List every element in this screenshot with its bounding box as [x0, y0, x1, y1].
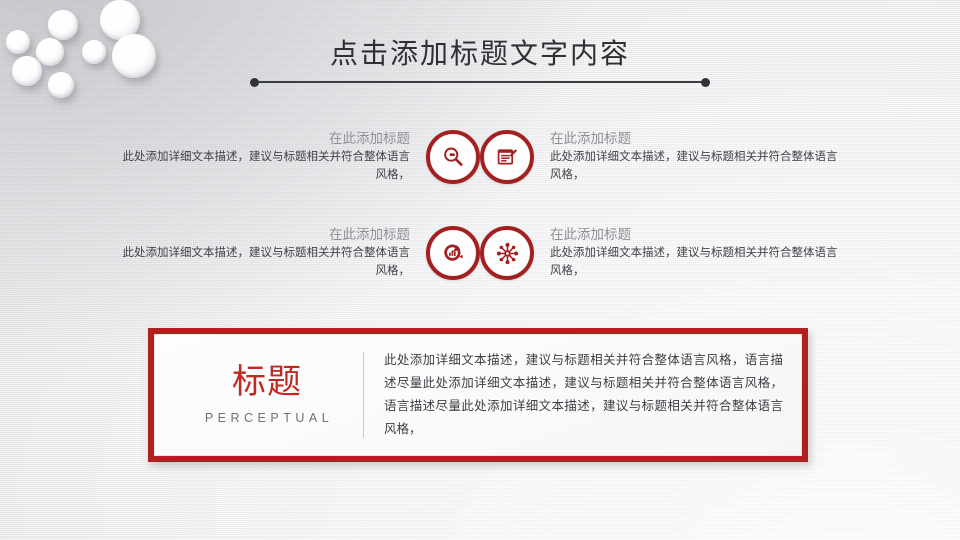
- page-title: 点击添加标题文字内容: [250, 36, 710, 71]
- feature-row-bottom: 在此添加标题 此处添加详细文本描述，建议与标题相关并符合整体语言风格，: [0, 220, 960, 286]
- feature-heading: 在此添加标题: [550, 225, 840, 245]
- feature-heading: 在此添加标题: [120, 225, 410, 245]
- feature-text-block: 在此添加标题 此处添加详细文本描述，建议与标题相关并符合整体语言风格，: [550, 129, 840, 185]
- feature-heading: 在此添加标题: [550, 129, 840, 149]
- rule-dot-left: [250, 78, 259, 87]
- disc: [48, 72, 74, 98]
- network-nodes-icon[interactable]: [480, 226, 534, 280]
- banner-body-text: 此处添加详细文本描述，建议与标题相关并符合整体语言风格，语言描述尽量此处添加详细…: [384, 349, 787, 442]
- slide-canvas: 点击添加标题文字内容 在此添加标题 此处添加详细文本描述，建议与标题相关并符合整…: [0, 0, 960, 540]
- title-block: 点击添加标题文字内容: [250, 36, 710, 87]
- feature-text-block: 在此添加标题 此处添加详细文本描述，建议与标题相关并符合整体语言风格，: [550, 225, 840, 281]
- disc: [112, 34, 156, 78]
- magnifier-icon[interactable]: [426, 130, 480, 184]
- feature-text-block: 在此添加标题 此处添加详细文本描述，建议与标题相关并符合整体语言风格，: [120, 129, 410, 185]
- rule-dot-right: [701, 78, 710, 87]
- note-pen-icon[interactable]: [480, 130, 534, 184]
- white-discs-cluster: [0, 0, 200, 120]
- disc: [48, 10, 78, 40]
- feature-item-top-left[interactable]: 在此添加标题 此处添加详细文本描述，建议与标题相关并符合整体语言风格，: [120, 129, 480, 185]
- disc: [36, 38, 64, 66]
- feature-item-top-right[interactable]: 在此添加标题 此处添加详细文本描述，建议与标题相关并符合整体语言风格，: [480, 129, 840, 185]
- banner-divider: [363, 352, 364, 438]
- feature-item-bottom-left[interactable]: 在此添加标题 此处添加详细文本描述，建议与标题相关并符合整体语言风格，: [120, 225, 480, 281]
- disc: [82, 40, 106, 64]
- disc: [12, 56, 42, 86]
- feature-body: 此处添加详细文本描述，建议与标题相关并符合整体语言风格，: [120, 245, 410, 281]
- feature-text-block: 在此添加标题 此处添加详细文本描述，建议与标题相关并符合整体语言风格，: [120, 225, 410, 281]
- feature-body: 此处添加详细文本描述，建议与标题相关并符合整体语言风格，: [120, 149, 410, 185]
- bar-chart-icon[interactable]: [426, 226, 480, 280]
- rule-bar: [255, 81, 705, 83]
- title-underline-rule: [250, 78, 710, 87]
- banner-subtitle: PERCEPTUAL: [183, 411, 351, 425]
- feature-item-bottom-right[interactable]: 在此添加标题 此处添加详细文本描述，建议与标题相关并符合整体语言风格，: [480, 225, 840, 281]
- feature-body: 此处添加详细文本描述，建议与标题相关并符合整体语言风格，: [550, 245, 840, 281]
- banner-title-block: 标题 PERCEPTUAL: [183, 365, 361, 426]
- feature-row-top: 在此添加标题 此处添加详细文本描述，建议与标题相关并符合整体语言风格，: [0, 124, 960, 190]
- feature-heading: 在此添加标题: [120, 129, 410, 149]
- banner-inner-panel: 标题 PERCEPTUAL 此处添加详细文本描述，建议与标题相关并符合整体语言风…: [154, 334, 802, 456]
- bottom-banner: 标题 PERCEPTUAL 此处添加详细文本描述，建议与标题相关并符合整体语言风…: [148, 328, 808, 462]
- banner-title: 标题: [183, 365, 351, 401]
- feature-body: 此处添加详细文本描述，建议与标题相关并符合整体语言风格，: [550, 149, 840, 185]
- disc: [6, 30, 30, 54]
